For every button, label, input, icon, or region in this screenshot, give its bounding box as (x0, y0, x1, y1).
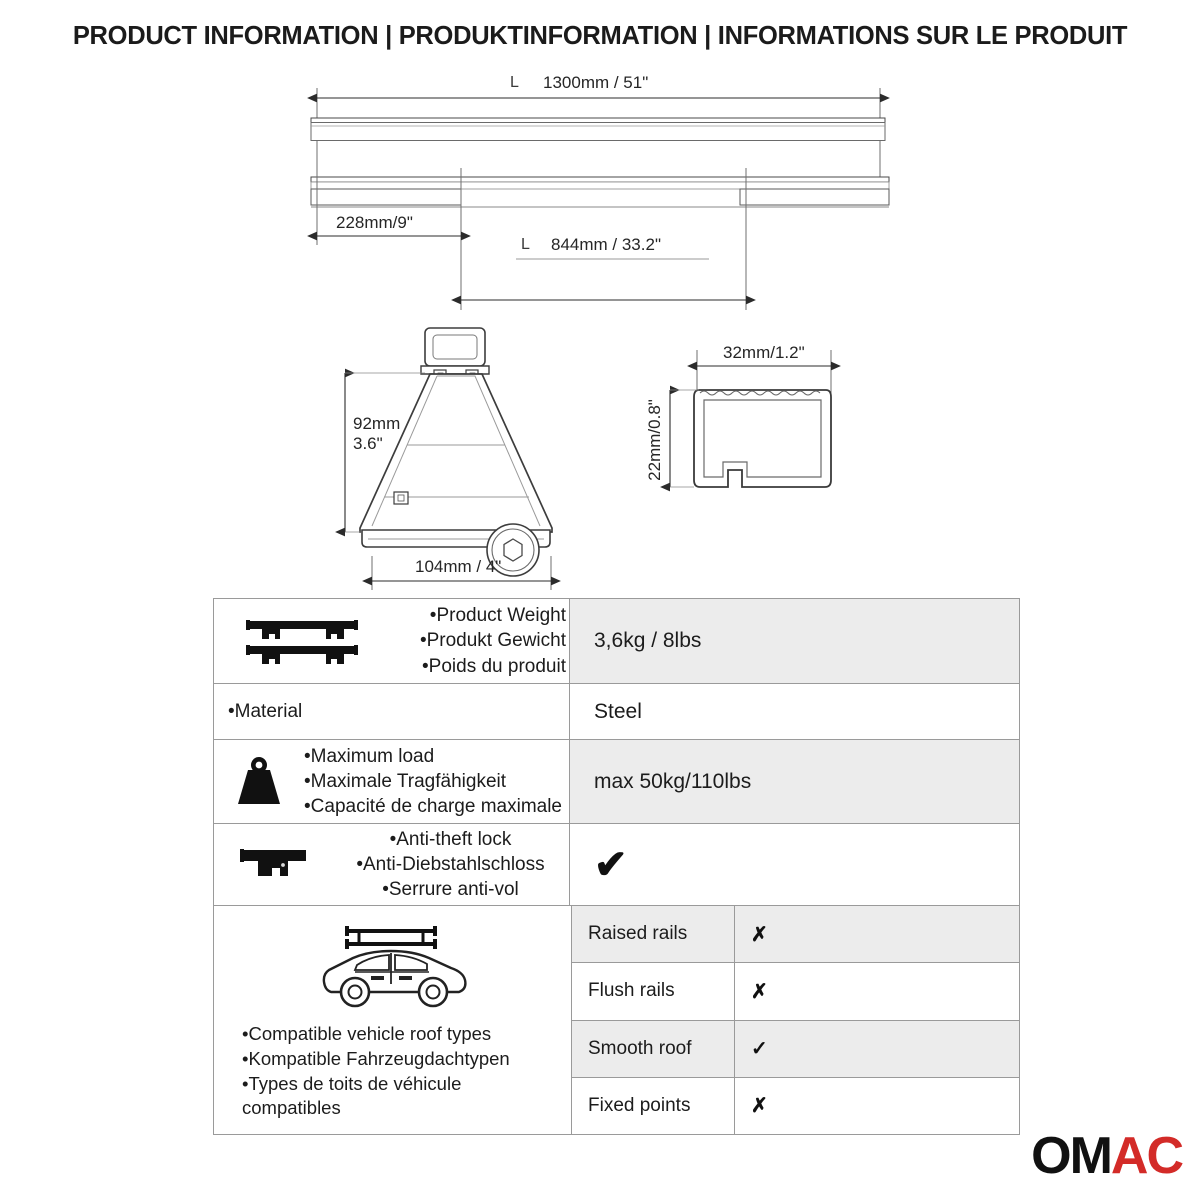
weight-icon-cell (214, 740, 304, 823)
label-line: •Maximale Tragfähigkeit (304, 769, 506, 794)
roof-types-labels: •Compatible vehicle roof types •Kompatib… (214, 1022, 510, 1121)
material-value-cell: Steel (569, 684, 1019, 739)
label-line: •Anti-Diebstahlschloss (356, 852, 544, 877)
roof-type-mark: ✓ (734, 1021, 1019, 1077)
label-line: •Product Weight (430, 603, 566, 628)
lock-icon (236, 842, 312, 888)
span-prefix: L (521, 236, 530, 253)
table-row-material: •Material Steel (214, 684, 1019, 740)
roof-type-row-raised-rails: Raised rails ✗ (572, 906, 1019, 963)
label-line: compatibles (242, 1096, 510, 1121)
label-line: •Produkt Gewicht (420, 628, 566, 653)
roof-type-name: Flush rails (572, 980, 734, 1002)
end-offset-value: 228mm/9" (336, 213, 413, 232)
roof-type-row-smooth-roof: Smooth roof ✓ (572, 1021, 1019, 1078)
material-value: Steel (594, 700, 642, 724)
overall-length-value: 1300mm / 51" (543, 73, 648, 92)
crossbars-icon-cell (214, 599, 390, 683)
product-weight-value-cell: 3,6kg / 8lbs (569, 599, 1019, 683)
anti-theft-lock-labels: •Anti-theft lock •Anti-Diebstahlschloss … (334, 824, 569, 905)
roof-type-mark: ✗ (734, 906, 1019, 962)
roof-type-mark: ✗ (734, 963, 1019, 1019)
anti-theft-check-mark: ✔ (594, 845, 628, 885)
label-line: •Anti-theft lock (390, 827, 512, 852)
technical-drawing: L 1300mm / 51" 228mm/9" L 844mm / 33.2" (0, 60, 1200, 590)
roof-type-mark: ✗ (734, 1078, 1019, 1134)
roof-type-name: Smooth roof (572, 1038, 734, 1060)
table-row-maximum-load: •Maximum load •Maximale Tragfähigkeit •C… (214, 740, 1019, 824)
table-row-product-weight: •Product Weight •Produkt Gewicht •Poids … (214, 599, 1019, 684)
span-value: 844mm / 33.2" (551, 235, 661, 254)
roof-types-subtable: Raised rails ✗ Flush rails ✗ Smooth roof… (571, 906, 1019, 1134)
roof-type-name: Fixed points (572, 1095, 734, 1117)
label-line: •Maximum load (304, 744, 434, 769)
logo-text-om: OM (1031, 1127, 1111, 1185)
roof-type-name: Raised rails (572, 923, 734, 945)
label-line: •Poids du produit (422, 654, 566, 679)
maximum-load-labels: •Maximum load •Maximale Tragfähigkeit •C… (304, 740, 569, 823)
label-line: •Kompatible Fahrzeugdachtypen (242, 1047, 510, 1072)
foot-width-value: 104mm / 4" (415, 557, 501, 576)
car-with-roof-rack-icon (309, 920, 477, 1012)
label-line: •Material (228, 699, 567, 724)
overall-length-prefix: L (510, 74, 519, 91)
product-weight-labels: •Product Weight •Produkt Gewicht •Poids … (390, 599, 569, 683)
spec-table: •Product Weight •Produkt Gewicht •Poids … (213, 598, 1020, 1135)
label-line: •Capacité de charge maximale (304, 794, 562, 819)
profile-height-value: 22mm/0.8" (645, 399, 664, 481)
roof-type-row-fixed-points: Fixed points ✗ (572, 1078, 1019, 1134)
foot-height-line1: 92mm (353, 414, 400, 433)
anti-theft-lock-value-cell: ✔ (569, 824, 1019, 905)
roof-types-left-cell: •Compatible vehicle roof types •Kompatib… (214, 906, 571, 1134)
foot-height-line2: 3.6" (353, 434, 383, 453)
weight-icon (230, 754, 288, 810)
roof-type-row-flush-rails: Flush rails ✗ (572, 963, 1019, 1020)
crossbars-icon (242, 613, 362, 669)
material-labels: •Material (214, 684, 569, 739)
table-row-roof-types: •Compatible vehicle roof types •Kompatib… (214, 906, 1019, 1134)
label-line: •Types de toits de véhicule (242, 1072, 510, 1097)
table-row-anti-theft-lock: •Anti-theft lock •Anti-Diebstahlschloss … (214, 824, 1019, 906)
product-weight-value: 3,6kg / 8lbs (594, 629, 701, 653)
maximum-load-value: max 50kg/110lbs (594, 770, 751, 794)
logo-text-ac: AC (1111, 1127, 1182, 1185)
maximum-load-value-cell: max 50kg/110lbs (569, 740, 1019, 823)
page-title: PRODUCT INFORMATION | PRODUKTINFORMATION… (0, 22, 1200, 51)
omac-logo: OMAC (1031, 1130, 1182, 1182)
label-line: •Serrure anti-vol (382, 877, 519, 902)
profile-width-value: 32mm/1.2" (723, 343, 805, 362)
lock-icon-cell (214, 824, 334, 905)
label-line: •Compatible vehicle roof types (242, 1022, 510, 1047)
